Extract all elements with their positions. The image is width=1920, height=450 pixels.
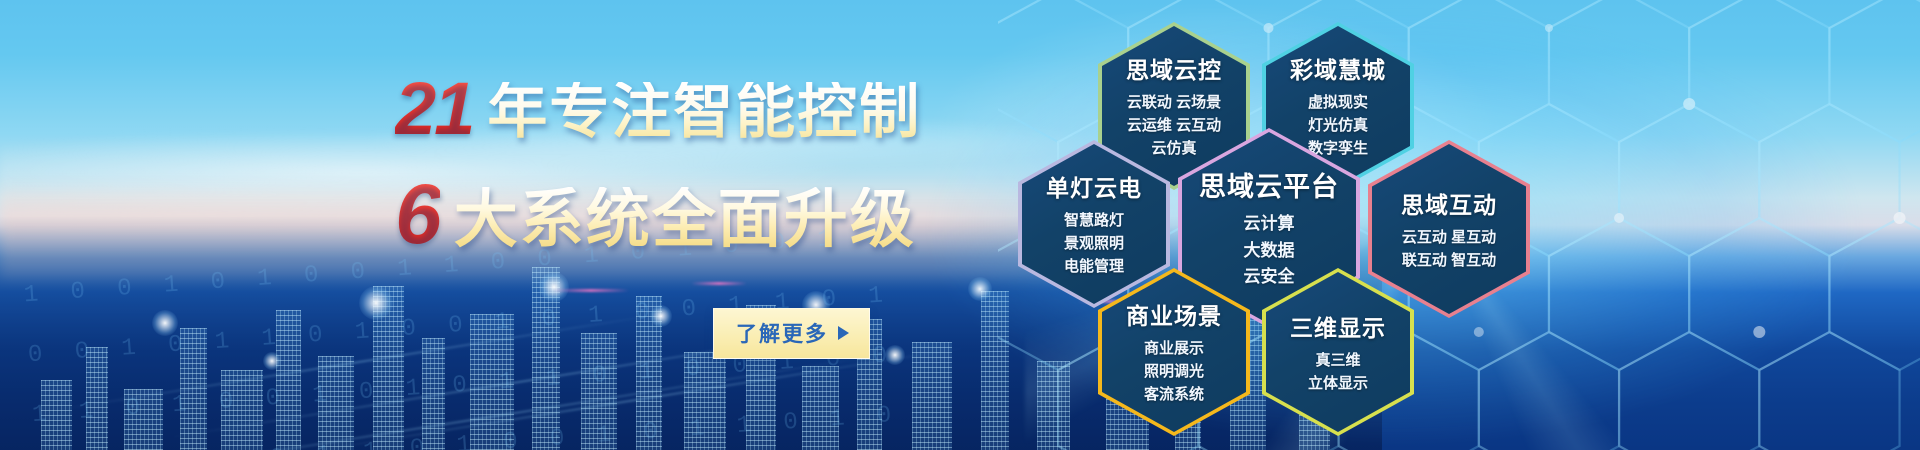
hex-title: 单灯云电 xyxy=(1046,169,1142,203)
hex-content: 商业场景 商业展示 照明调光 客流系统 xyxy=(1118,297,1230,406)
hex-sub-line: 云互动 星互动 xyxy=(1401,227,1497,250)
hex-content: 三维显示 真三维 立体显示 xyxy=(1282,309,1394,396)
hex-title: 思域云平台 xyxy=(1199,165,1339,204)
hex-title: 商业场景 xyxy=(1126,297,1222,331)
hex-content: 单灯云电 智慧路灯 景观照明 电能管理 xyxy=(1038,169,1150,278)
hex-content: 思域云控 云联动 云场景 云运维 云互动 云仿真 xyxy=(1118,51,1230,160)
headline-line-2-text: 大系统全面升级 xyxy=(454,187,916,251)
hex-content: 思域互动 云互动 星互动 联互动 智互动 xyxy=(1393,186,1505,273)
promo-banner: 0 1 0 0 1 0 1 0 0 1 1 0 0 1 0 1 0 0 1 0 … xyxy=(0,0,1920,450)
hex-sub-line: 云运维 云互动 xyxy=(1126,115,1222,138)
hex-sub-line: 电能管理 xyxy=(1046,256,1142,279)
headline-line-2: 6大系统全面升级 xyxy=(395,172,1085,256)
hexagon-cluster: 思域云控 云联动 云场景 云运维 云互动 云仿真 彩域慧城 虚拟现实 灯光仿真 … xyxy=(1000,0,1920,450)
hex-sub-line: 虚拟现实 xyxy=(1290,92,1386,115)
learn-more-label: 了解更多 xyxy=(736,318,828,348)
hex-sub-line: 照明调光 xyxy=(1126,361,1222,384)
play-arrow-icon xyxy=(838,326,849,340)
hex-sub-line: 真三维 xyxy=(1290,350,1386,373)
years-number: 21 xyxy=(395,72,473,146)
learn-more-button[interactable]: 了解更多 xyxy=(713,308,870,359)
hex-title: 思域互动 xyxy=(1401,186,1497,220)
hex-sub-line: 立体显示 xyxy=(1290,373,1386,396)
hex-sub-line: 云联动 云场景 xyxy=(1126,92,1222,115)
systems-number: 6 xyxy=(395,172,440,256)
headline-line-1-text: 年专注智能控制 xyxy=(487,82,921,142)
hex-content: 彩域慧城 虚拟现实 灯光仿真 数字孪生 xyxy=(1282,51,1394,160)
headline-block: 21年专注智能控制 6大系统全面升级 了解更多 xyxy=(395,72,1085,359)
hex-sub-line: 智慧路灯 xyxy=(1046,210,1142,233)
hex-sub-line: 云仿真 xyxy=(1126,138,1222,161)
hex-sub-line: 云计算 xyxy=(1199,211,1339,237)
hex-sub-line: 客流系统 xyxy=(1126,384,1222,407)
headline-line-1: 21年专注智能控制 xyxy=(395,72,1085,146)
hex-siyu-hudong[interactable]: 思域互动 云互动 星互动 联互动 智互动 xyxy=(1368,140,1530,318)
hex-sub-line: 联互动 智互动 xyxy=(1401,250,1497,273)
hex-title: 思域云控 xyxy=(1126,51,1222,85)
hex-content: 思域云平台 云计算 大数据 云安全 xyxy=(1191,165,1347,290)
hex-sub-line: 景观照明 xyxy=(1046,233,1142,256)
hex-title: 三维显示 xyxy=(1290,309,1386,343)
hex-sub-line: 大数据 xyxy=(1199,238,1339,264)
hex-title: 彩域慧城 xyxy=(1290,51,1386,85)
hex-sub-line: 灯光仿真 xyxy=(1290,115,1386,138)
hex-sub-line: 商业展示 xyxy=(1126,338,1222,361)
